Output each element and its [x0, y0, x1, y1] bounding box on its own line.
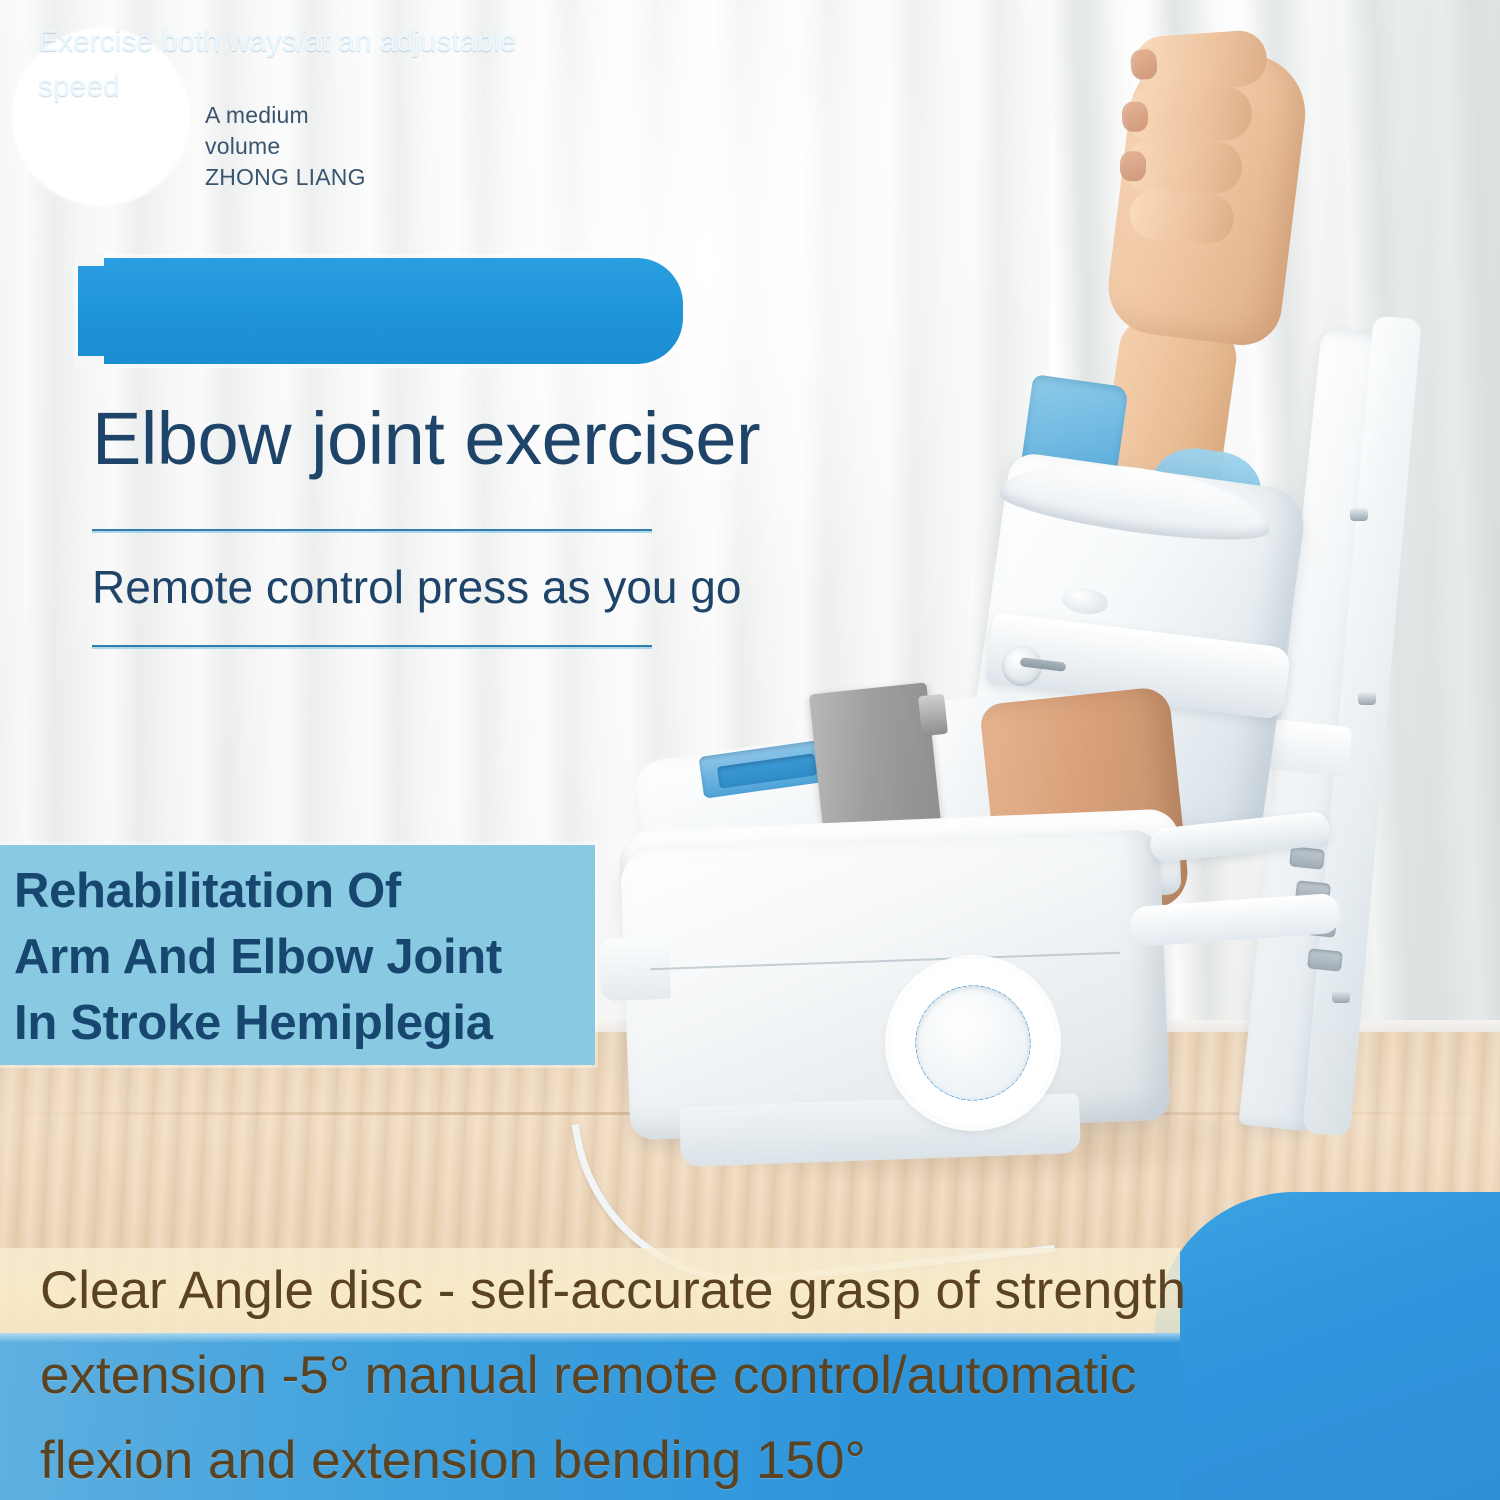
caption-line-1: Clear Angle disc - self-accurate grasp o…: [40, 1248, 1440, 1333]
brand-line-3: ZHONG LIANG: [205, 162, 525, 193]
feature-banner: [78, 258, 683, 364]
title-divider-bottom: [92, 645, 652, 647]
brand-block: A medium volume ZHONG LIANG: [205, 100, 525, 193]
caption-block: Clear Angle disc - self-accurate grasp o…: [40, 1248, 1440, 1500]
rail-screw: [1358, 692, 1376, 705]
brand-line-2: volume: [205, 131, 525, 162]
highlight-line-3: In Stroke Hemiplegia: [14, 990, 614, 1056]
rail-screw: [1332, 990, 1350, 1003]
rail-slot: [1289, 846, 1325, 869]
rail-screw: [1350, 508, 1368, 521]
finger: [1128, 188, 1235, 245]
product-poster: A medium volume ZHONG LIANG Exercise bot…: [0, 0, 1500, 1500]
velcro-buckle: [918, 694, 948, 736]
highlight-block: Rehabilitation Of Arm And Elbow Joint In…: [14, 858, 614, 1056]
caption-line-2: extension -5° manual remote control/auto…: [40, 1333, 1440, 1418]
feature-banner-text: Exercise both ways/at an adjustable spee…: [38, 19, 568, 109]
title-divider-top: [92, 529, 652, 531]
rail-slot: [1307, 948, 1343, 971]
highlight-line-2: Arm And Elbow Joint: [14, 924, 614, 990]
finger: [1133, 29, 1269, 94]
highlight-line-1: Rehabilitation Of: [14, 858, 614, 924]
page-subtitle: Remote control press as you go: [92, 556, 1092, 618]
finger: [1124, 140, 1243, 194]
page-title: Elbow joint exerciser: [92, 398, 1092, 480]
caption-line-3: flexion and extension bending 150°: [40, 1418, 1440, 1500]
finger: [1125, 86, 1253, 144]
